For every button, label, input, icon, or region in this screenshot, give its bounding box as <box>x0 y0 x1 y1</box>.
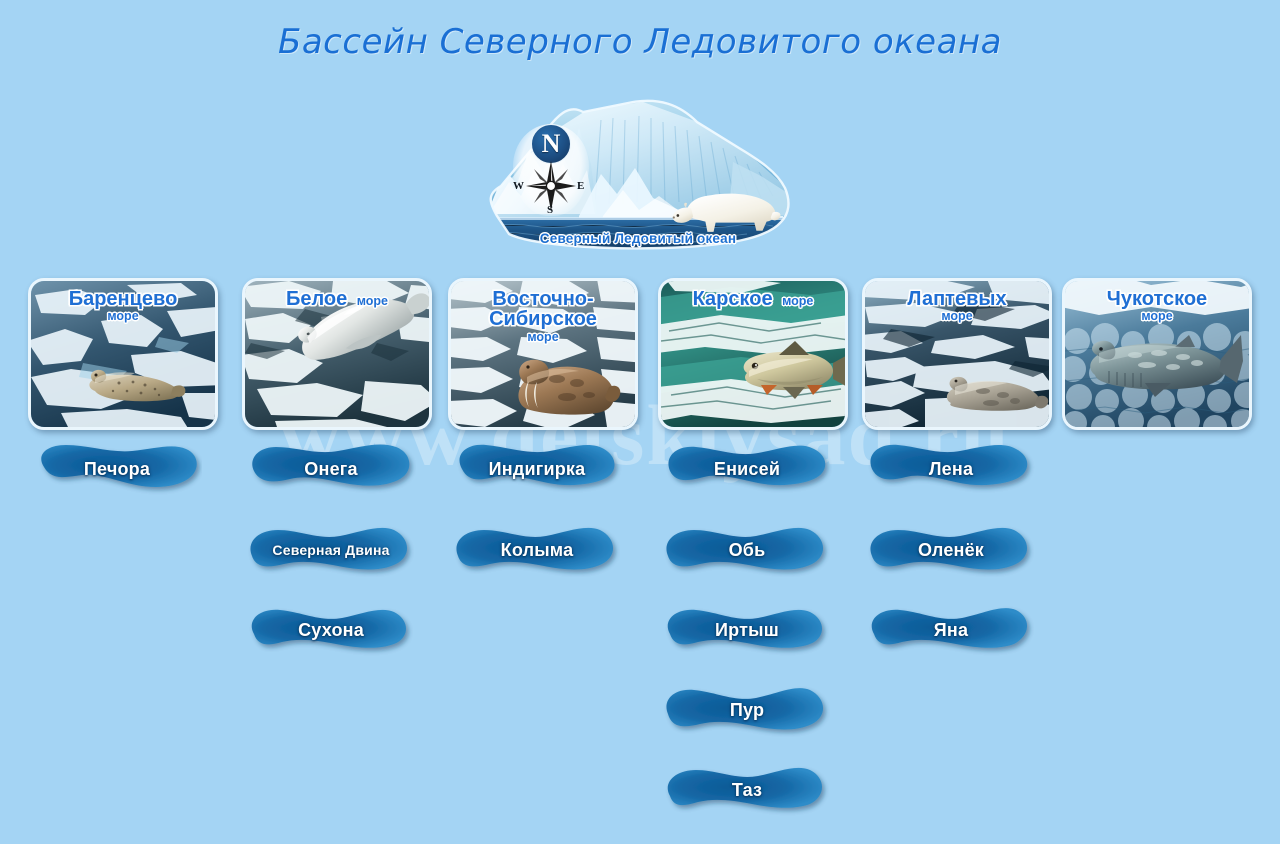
river-blob-onega[interactable]: Онега <box>246 441 416 499</box>
sea-card-white[interactable]: Белое море <box>242 278 432 430</box>
river-blob-pur[interactable]: Пур <box>662 682 832 740</box>
river-blob-sukhona[interactable]: Сухона <box>246 602 416 660</box>
arctic-ocean-header: N W E S Севе <box>483 98 793 252</box>
river-blob-pechora[interactable]: Печора <box>32 441 202 499</box>
sea-card-kara[interactable]: Карское море <box>658 278 848 430</box>
sea-card-laptev[interactable]: Лаптевых море <box>862 278 1052 430</box>
river-blob-olenyok[interactable]: Оленёк <box>866 522 1036 580</box>
river-label: Печора <box>32 441 202 499</box>
river-label: Иртыш <box>662 602 832 660</box>
compass-rose: N W E S <box>513 124 589 216</box>
river-label: Енисей <box>662 441 832 499</box>
river-blob-indigirka[interactable]: Индигирка <box>452 441 622 499</box>
river-label: Северная Двина <box>246 522 416 580</box>
sea-card-barents[interactable]: Баренцево море <box>28 278 218 430</box>
ocean-caption: Северный Ледовитый океан <box>483 231 793 246</box>
river-label: Пур <box>662 682 832 740</box>
seal-on-ice-photo <box>31 281 218 430</box>
river-label: Колыма <box>452 522 622 580</box>
river-label: Индигирка <box>452 441 622 499</box>
river-blob-irtysh[interactable]: Иртыш <box>662 602 832 660</box>
river-blob-lena[interactable]: Лена <box>866 441 1036 499</box>
river-blob-severnaya-dvina[interactable]: Северная Двина <box>246 522 416 580</box>
sea-card-chukchi[interactable]: Чукотское море <box>1062 278 1252 430</box>
river-blob-ob[interactable]: Обь <box>662 522 832 580</box>
river-label: Таз <box>662 762 832 820</box>
compass-west-label: W <box>513 180 524 192</box>
walrus-on-ice-photo <box>451 281 638 430</box>
compass-south-label: S <box>547 204 553 216</box>
grey-whale-photo <box>1065 281 1252 430</box>
fish-in-water-photo <box>661 281 848 430</box>
compass-east-label: E <box>577 180 584 192</box>
page-title: Бассейн Северного Ледовитого океана <box>0 22 1280 62</box>
river-blob-taz[interactable]: Таз <box>662 762 832 820</box>
river-blob-yenisei[interactable]: Енисей <box>662 441 832 499</box>
river-label: Оленёк <box>866 522 1036 580</box>
river-blob-kolyma[interactable]: Колыма <box>452 522 622 580</box>
river-label: Обь <box>662 522 832 580</box>
river-label: Онега <box>246 441 416 499</box>
beluga-on-ice-photo <box>245 281 432 430</box>
river-label: Яна <box>866 602 1036 660</box>
compass-north-badge: N <box>531 124 571 164</box>
infographic-canvas: www.detskiysad.ru Бассейн Северного Ледо… <box>0 0 1280 844</box>
sea-card-east-siberian[interactable]: Восточно-Сибирское море <box>448 278 638 430</box>
compass-north-label: N <box>542 131 561 157</box>
seal-on-floe-photo <box>865 281 1052 430</box>
river-blob-yana[interactable]: Яна <box>866 602 1036 660</box>
river-label: Лена <box>866 441 1036 499</box>
river-label: Сухона <box>246 602 416 660</box>
